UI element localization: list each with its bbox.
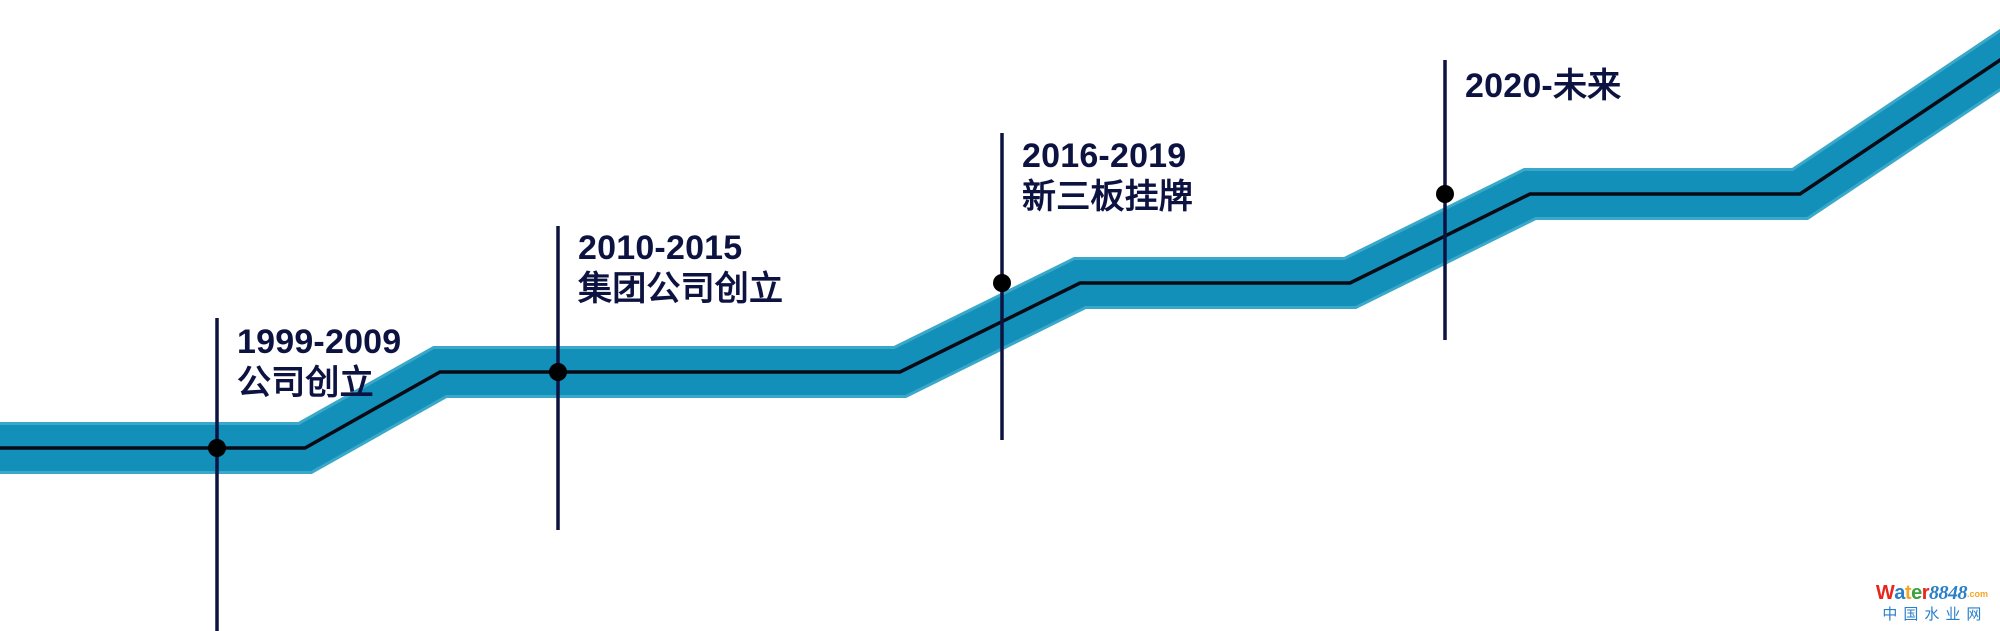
milestone-desc-2: 集团公司创立	[578, 269, 783, 310]
milestone-dot-2[interactable]	[549, 363, 567, 381]
milestone-desc-3: 新三板挂牌	[1022, 177, 1193, 218]
watermark-tld: .com	[1967, 589, 1988, 599]
milestone-years-2: 2010-2015	[578, 228, 783, 269]
milestone-desc-1: 公司创立	[237, 363, 401, 404]
watermark-brand: Water8848.com	[1876, 583, 1988, 603]
milestone-years-1: 1999-2009	[237, 322, 401, 363]
milestone-label-1: 1999-2009公司创立	[237, 322, 401, 405]
watermark-letter-4: e	[1911, 583, 1922, 603]
watermark-letter-2: a	[1894, 583, 1905, 603]
watermark-letter-5: r	[1922, 583, 1929, 603]
watermark-letter-1: W	[1876, 583, 1894, 603]
watermark-brand-letters: Water	[1876, 582, 1929, 604]
diagram-canvas: 1999-2009公司创立2010-2015集团公司创立2016-2019新三板…	[0, 0, 2000, 631]
milestone-dot-4[interactable]	[1436, 185, 1454, 203]
milestone-dot-3[interactable]	[993, 274, 1011, 292]
site-watermark: Water8848.com 中国水业网	[1876, 583, 1988, 623]
staircase-diagram	[0, 0, 2000, 631]
milestone-years-3: 2016-2019	[1022, 136, 1193, 177]
watermark-number: 8848	[1929, 582, 1967, 604]
milestone-label-4: 2020-未来	[1465, 66, 1621, 107]
watermark-subtitle: 中国水业网	[1876, 605, 1988, 623]
milestone-years-4: 2020-未来	[1465, 66, 1621, 107]
milestone-dot-1[interactable]	[208, 439, 226, 457]
milestone-label-2: 2010-2015集团公司创立	[578, 228, 783, 311]
milestone-label-3: 2016-2019新三板挂牌	[1022, 136, 1193, 219]
